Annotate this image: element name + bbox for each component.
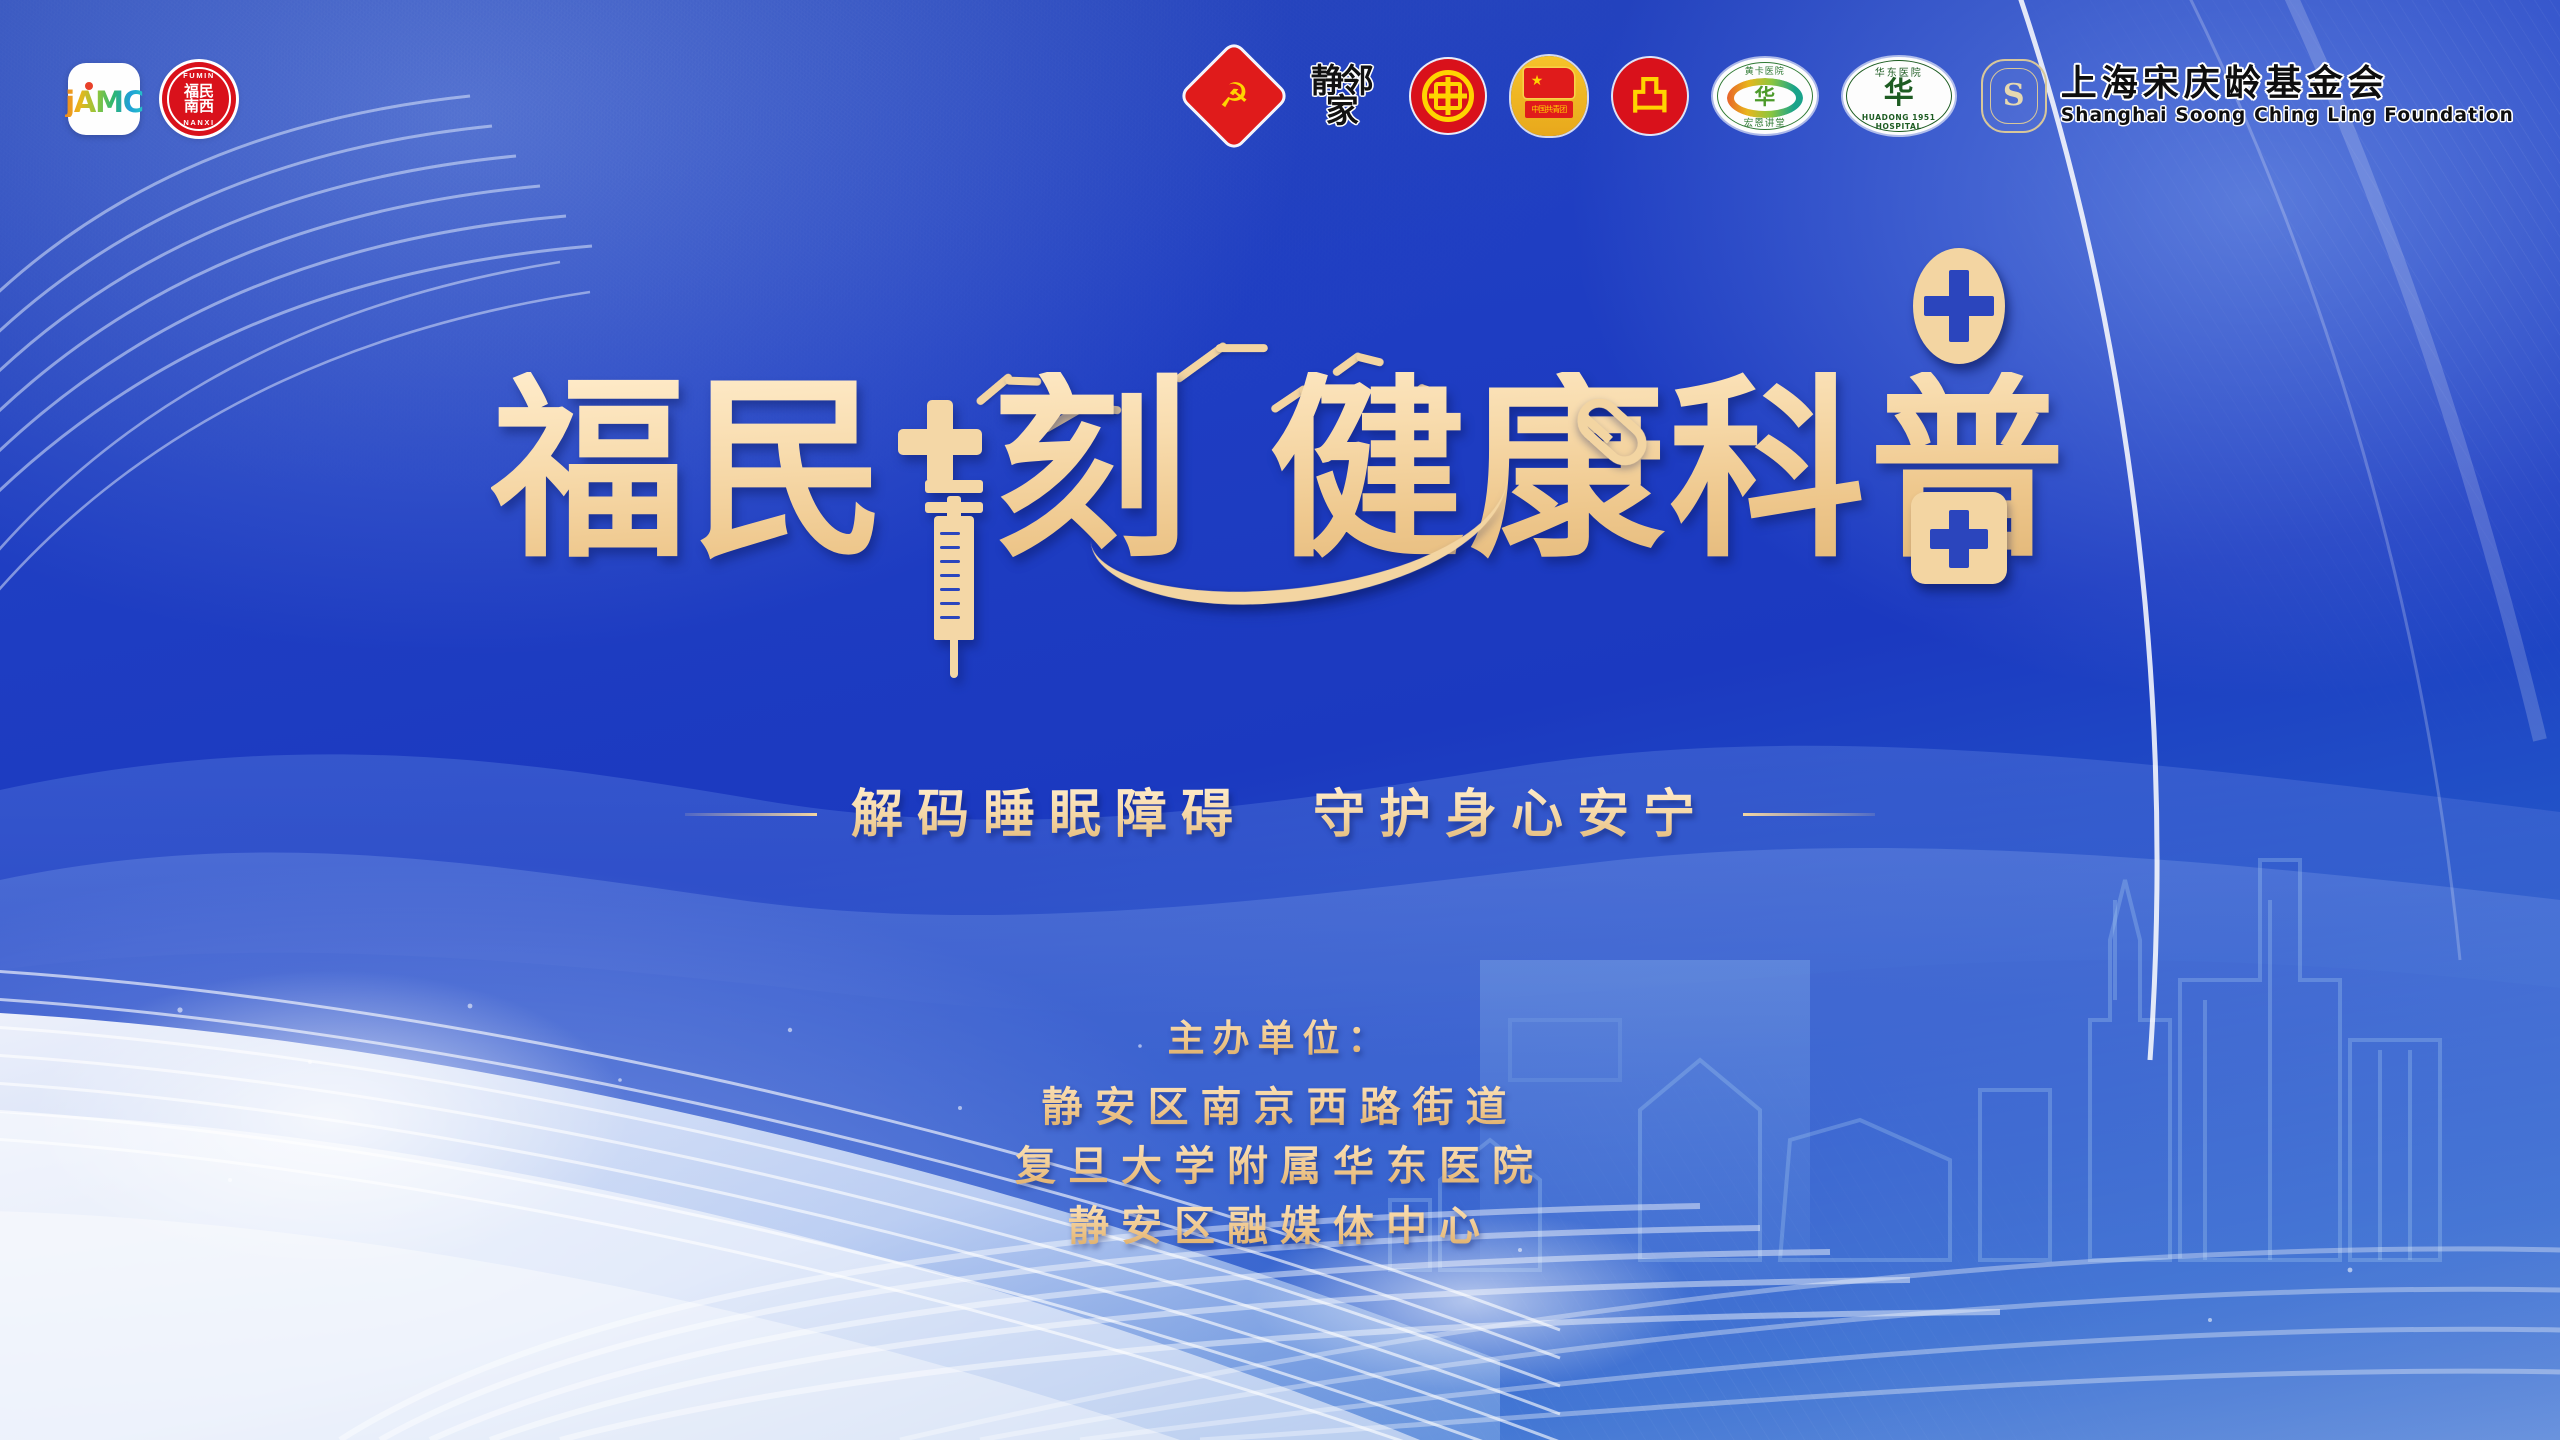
medical-cross-icon	[927, 400, 953, 484]
main-title: 福民 刻 健康科普	[491, 372, 2069, 568]
subtitle-text: 解码睡眠障碍 守护身心安宁	[851, 786, 1709, 843]
title-part-1: 福民	[491, 372, 891, 568]
fumin-nanxi-seal[interactable]: FUMIN 福民 南西 NANXI	[162, 62, 236, 136]
subtitle-row: 解码睡眠障碍 守护身心安宁	[0, 786, 2560, 843]
scl-monogram: S	[2003, 81, 2025, 111]
cross-oval-icon	[1913, 248, 2005, 364]
organizer-block: 主办单位： 静安区南京西路街道 复旦大学附属华东医院 静安区融媒体中心	[0, 1008, 2560, 1256]
huadong-bottom-text: HUADONG 1951 HOSPITAL	[1843, 113, 1955, 131]
logo-group-right: ☭ 静邻 家 ★ 中国共青团 凸 黄卡医院 华	[1197, 48, 2514, 144]
jinglinjia-logo[interactable]: 静邻 家	[1297, 66, 1385, 126]
seal-text-top: FUMIN	[183, 71, 215, 80]
scl-name-en: Shanghai Soong Ching Ling Foundation	[2061, 107, 2514, 126]
union-inner-icon	[1434, 82, 1462, 110]
star-icon: ★	[1531, 73, 1544, 87]
soong-ching-ling-foundation-logo[interactable]: S 上海宋庆龄基金会 Shanghai Soong Ching Ling Fou…	[1981, 59, 2514, 133]
cyl-badge-text: 中国共青团	[1525, 101, 1573, 118]
kepu-bottom-text: 宏恩讲堂	[1713, 115, 1817, 129]
trade-union-emblem[interactable]	[1411, 59, 1485, 133]
main-title-wrap: 福民 刻 健康科普	[0, 372, 2560, 568]
jamc-logo[interactable]: jAMC	[68, 63, 140, 135]
subtitle-rule-left	[685, 813, 817, 816]
scl-mark-icon: S	[1981, 59, 2047, 133]
huadong-hospital-kepu-logo[interactable]: 黄卡医院 华 宏恩讲堂	[1713, 58, 1817, 134]
poster-canvas: jAMC FUMIN 福民 南西 NANXI ☭ 静邻 家 ★	[0, 0, 2560, 1440]
communist-youth-league-emblem[interactable]: ★ 中国共青团	[1511, 56, 1587, 136]
womens-federation-emblem[interactable]: 凸	[1613, 58, 1687, 134]
subtitle-rule-right	[1743, 813, 1875, 816]
jinglinjia-line2: 家	[1297, 96, 1385, 126]
title-swoosh-stroke	[1088, 471, 1514, 613]
kepu-mid-text: 华	[1754, 81, 1775, 111]
huadong-mid-text: 华	[1884, 79, 1914, 109]
scl-name-cn: 上海宋庆龄基金会	[2061, 66, 2514, 102]
wf-glyph-icon: 凸	[1630, 76, 1670, 116]
seal-text-bottom: NANXI	[183, 118, 214, 127]
organizer-label: 主办单位：	[0, 1008, 2560, 1062]
huadong-hospital-logo[interactable]: 华东医院 华 HUADONG 1951 HOSPITAL	[1843, 57, 1955, 135]
organizer-line-1: 静安区南京西路街道	[0, 1078, 2560, 1137]
jamc-logo-text: jAMC	[65, 88, 143, 117]
kepu-top-text: 黄卡医院	[1713, 64, 1817, 77]
organizer-line-3: 静安区融媒体中心	[0, 1197, 2560, 1256]
hammer-sickle-icon: ☭	[1218, 79, 1248, 113]
seal-cn-bottom: 南西	[184, 99, 214, 114]
organizer-line-2: 复旦大学附属华东医院	[0, 1137, 2560, 1196]
cpc-party-emblem[interactable]: ☭	[1197, 59, 1271, 133]
logo-group-left: jAMC FUMIN 福民 南西 NANXI	[68, 62, 236, 136]
cross-square-icon	[1911, 492, 2007, 584]
